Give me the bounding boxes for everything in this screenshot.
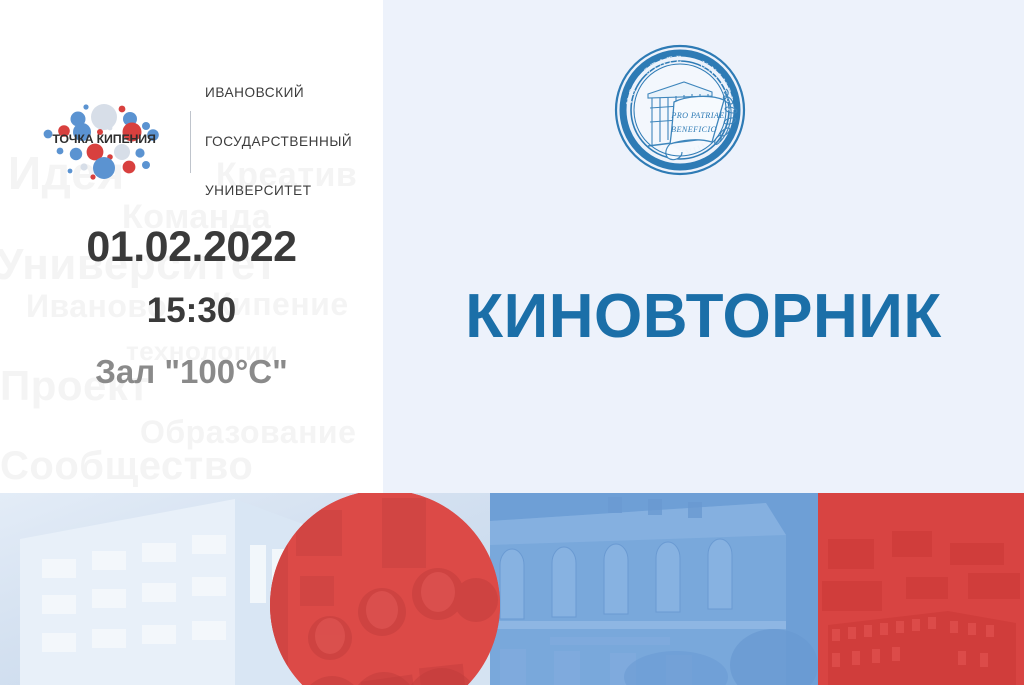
university-name: ИВАНОВСКИЙ ГОСУДАРСТВЕННЫЙ УНИВЕРСИТЕТ: [205, 52, 352, 232]
event-info-block: 01.02.2022 15:30 Зал "100°C": [0, 226, 383, 388]
ivanovo-state-university-seal: IVANOVO • STATE • UNIVERSITY • MCMXVIII …: [612, 42, 748, 178]
event-time: 15:30: [0, 293, 383, 328]
boiling-point-wordmark: ТОЧКА КИПЕНИЯ: [34, 132, 174, 146]
seal-motto-line-1: PRO PATRIAE: [670, 111, 724, 120]
poster-main-title: КИНОВТОРНИК: [383, 286, 1024, 348]
watermark-word: Сообщество: [0, 444, 253, 489]
logo-divider: [190, 111, 191, 173]
event-poster: Идея Креатив Команда Университет Иваново…: [0, 0, 1024, 685]
university-name-line-3: УНИВЕРСИТЕТ: [205, 183, 352, 199]
classical-university-building-photo: [490, 493, 818, 685]
aerial-city-illustration: [818, 493, 1024, 685]
poster-top-area: Идея Креатив Команда Университет Иваново…: [0, 0, 1024, 493]
boiling-point-logo: ТОЧКА КИПЕНИЯ: [34, 101, 174, 183]
logo-lockup: ТОЧКА КИПЕНИЯ ИВАНОВСКИЙ ГОСУДАРСТВЕННЫЙ…: [34, 52, 352, 232]
event-hall: Зал "100°C": [0, 355, 383, 388]
photo-strip: [0, 493, 1024, 685]
university-name-line-1: ИВАНОВСКИЙ: [205, 85, 352, 101]
classical-building-illustration: [490, 493, 818, 685]
university-name-line-2: ГОСУДАРСТВЕННЫЙ: [205, 134, 352, 150]
seal-motto-line-2: BENEFICIO: [671, 125, 717, 134]
city-aerial-view-photo: [818, 493, 1024, 685]
watermark-word: Образование: [140, 414, 356, 451]
